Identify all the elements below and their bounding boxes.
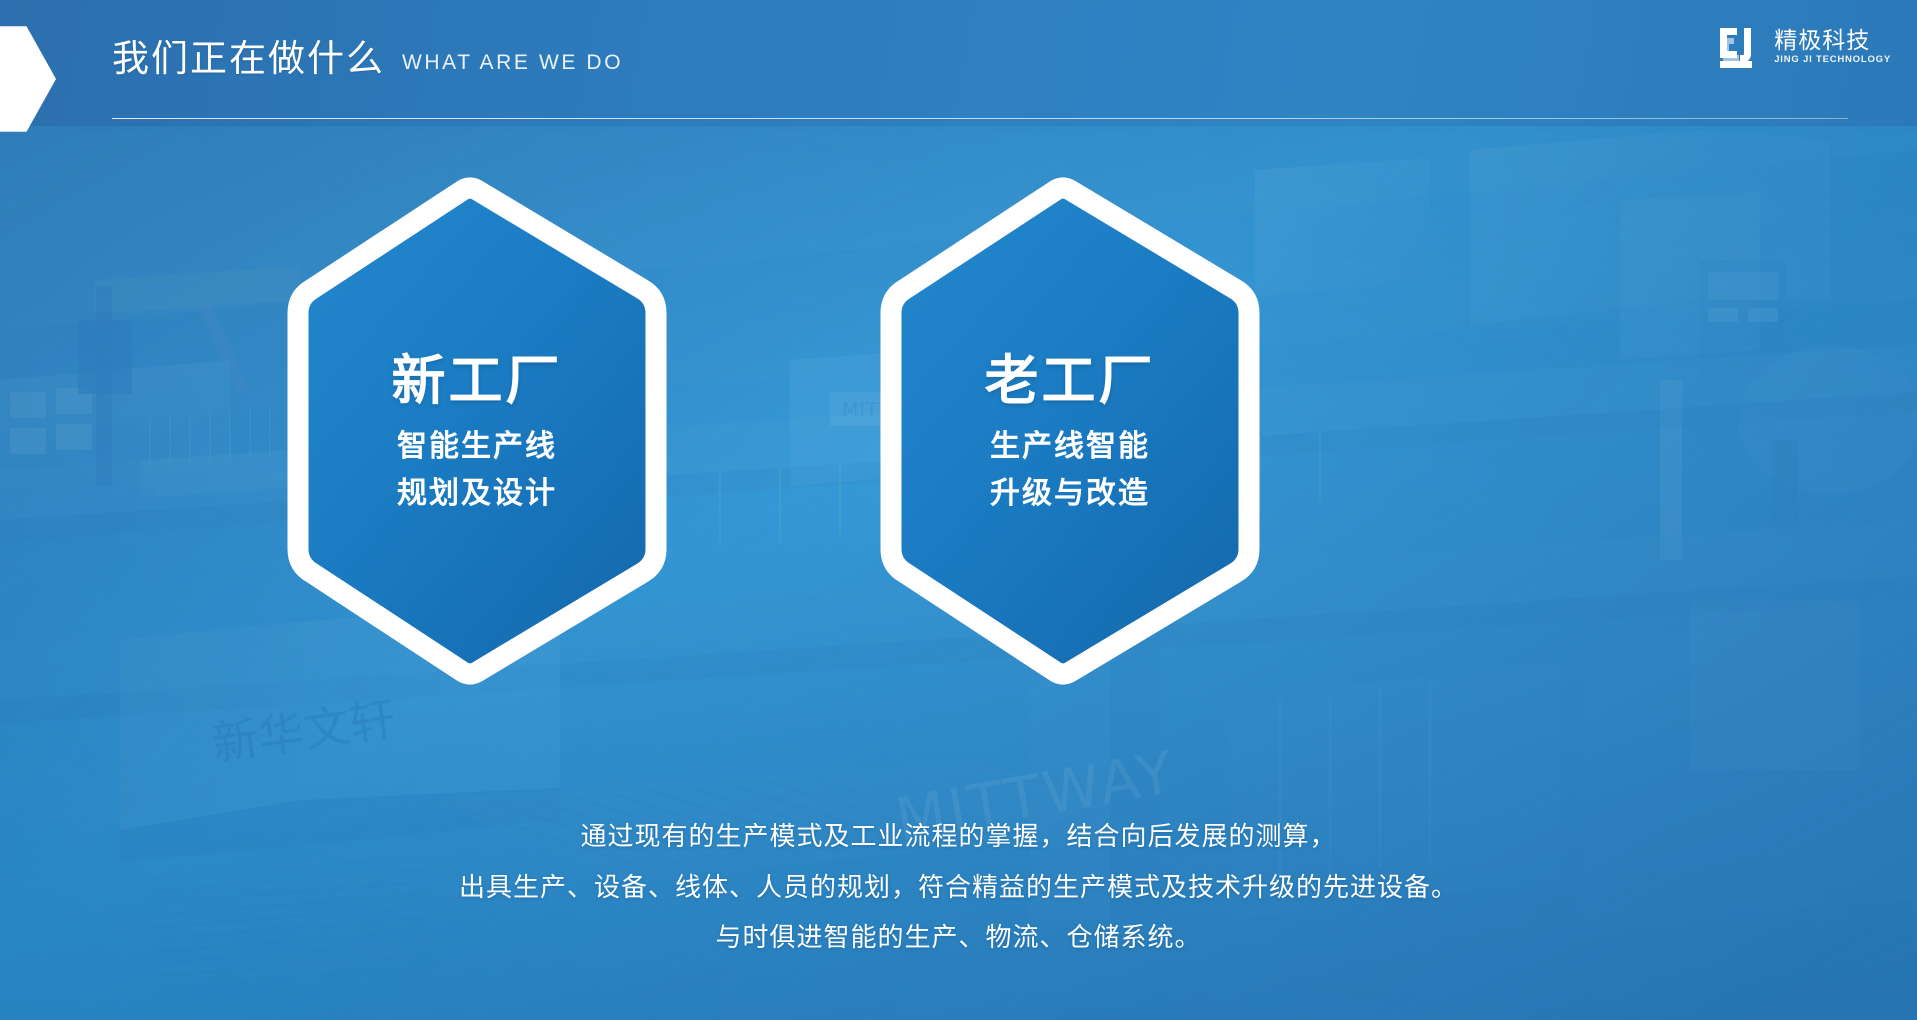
- hexagon-card-subtitle-line2: 规划及设计: [397, 471, 557, 518]
- description-line-1: 通过现有的生产模式及工业流程的掌握，结合向后发展的测算，: [0, 812, 1917, 863]
- brand-logo: 精极科技 JING JI TECHNOLOGY: [1718, 24, 1891, 70]
- hexagon-card-subtitle-line1: 生产线智能: [990, 424, 1150, 471]
- page-title: 我们正在做什么 WHAT ARE WE DO: [112, 40, 623, 77]
- hexagon-card-content: 老工厂 生产线智能 升级与改造: [873, 176, 1267, 686]
- header-divider: [112, 118, 1848, 119]
- hexagon-card-subtitle-line1: 智能生产线: [397, 424, 557, 471]
- hexagon-card-subtitle-line2: 升级与改造: [990, 471, 1150, 518]
- slide-root: MITTWAY 新华文轩: [0, 0, 1917, 1020]
- description-line-2: 出具生产、设备、线体、人员的规划，符合精益的生产模式及技术升级的先进设备。: [0, 863, 1917, 914]
- brand-name-en: JING JI TECHNOLOGY: [1774, 55, 1891, 65]
- hexagon-card-content: 新工厂 智能生产线 规划及设计: [280, 176, 674, 686]
- slide-header: 我们正在做什么 WHAT ARE WE DO: [0, 0, 1917, 126]
- jingji-jj-monogram-icon: [1718, 24, 1762, 70]
- description-paragraph: 通过现有的生产模式及工业流程的掌握，结合向后发展的测算， 出具生产、设备、线体、…: [0, 812, 1917, 964]
- hexagon-card-old-factory[interactable]: 老工厂 生产线智能 升级与改造: [873, 176, 1267, 686]
- brand-name-cn: 精极科技: [1774, 29, 1870, 53]
- hexagon-tab-icon: [0, 24, 56, 134]
- hexagon-card-new-factory[interactable]: 新工厂 智能生产线 规划及设计: [280, 176, 674, 686]
- page-title-en: WHAT ARE WE DO: [402, 52, 623, 77]
- hexagon-card-title: 老工厂: [985, 351, 1156, 410]
- brand-logo-text: 精极科技 JING JI TECHNOLOGY: [1774, 29, 1891, 65]
- hexagon-card-row: 新工厂 智能生产线 规划及设计 老工厂 生产线智能 升级与改造: [0, 176, 1917, 686]
- description-line-3: 与时俱进智能的生产、物流、仓储系统。: [0, 913, 1917, 964]
- hexagon-card-title: 新工厂: [392, 351, 563, 410]
- page-title-cn: 我们正在做什么: [112, 40, 385, 77]
